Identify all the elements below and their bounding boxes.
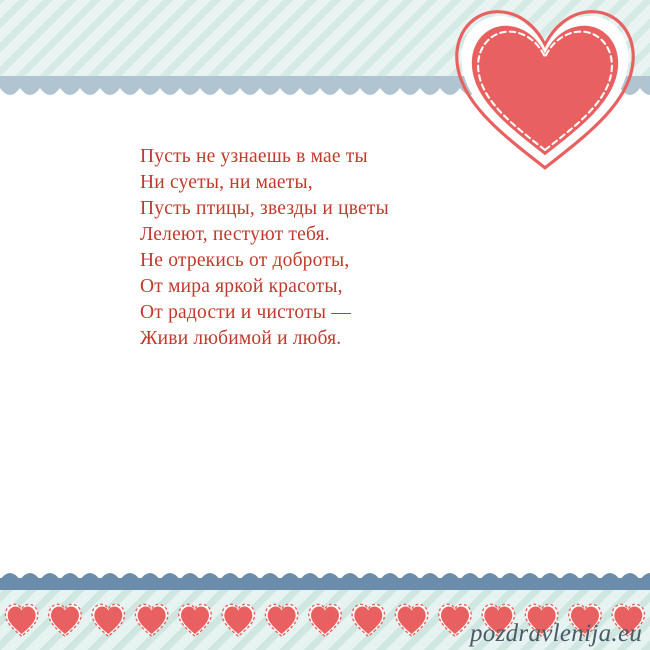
poem-line: Не отрекись от доброты, — [140, 248, 580, 274]
poem-line: Пусть птицы, звезды и цветы — [140, 196, 580, 222]
poem: Пусть не узнаешь в мае ты Ни суеты, ни м… — [140, 144, 580, 352]
heart-border-item — [439, 604, 471, 636]
heart-border-item — [222, 604, 254, 636]
greeting-card: Пусть не узнаешь в мае ты Ни суеты, ни м… — [0, 0, 650, 650]
heart-border-item — [49, 604, 81, 636]
heart-border-item — [309, 604, 341, 636]
poem-line: От мира яркой красоты, — [140, 274, 580, 300]
heart-border-item — [135, 604, 167, 636]
heart-border-item — [92, 604, 124, 636]
poem-line: Лелеют, пестуют тебя. — [140, 222, 580, 248]
heart-border-item — [265, 604, 297, 636]
heart-border-item — [5, 604, 37, 636]
poem-line: От радости и чистоты — — [140, 300, 580, 326]
watermark: pozdravlenija.eu — [470, 620, 642, 648]
poem-line: Живи любимой и любя. — [140, 326, 580, 352]
bottom-blue-band — [0, 578, 650, 590]
poem-line: Пусть не узнаешь в мае ты — [140, 144, 580, 170]
heart-border-item — [395, 604, 427, 636]
heart-border-item — [352, 604, 384, 636]
poem-line: Ни суеты, ни маеты, — [140, 170, 580, 196]
heart-border-item — [179, 604, 211, 636]
